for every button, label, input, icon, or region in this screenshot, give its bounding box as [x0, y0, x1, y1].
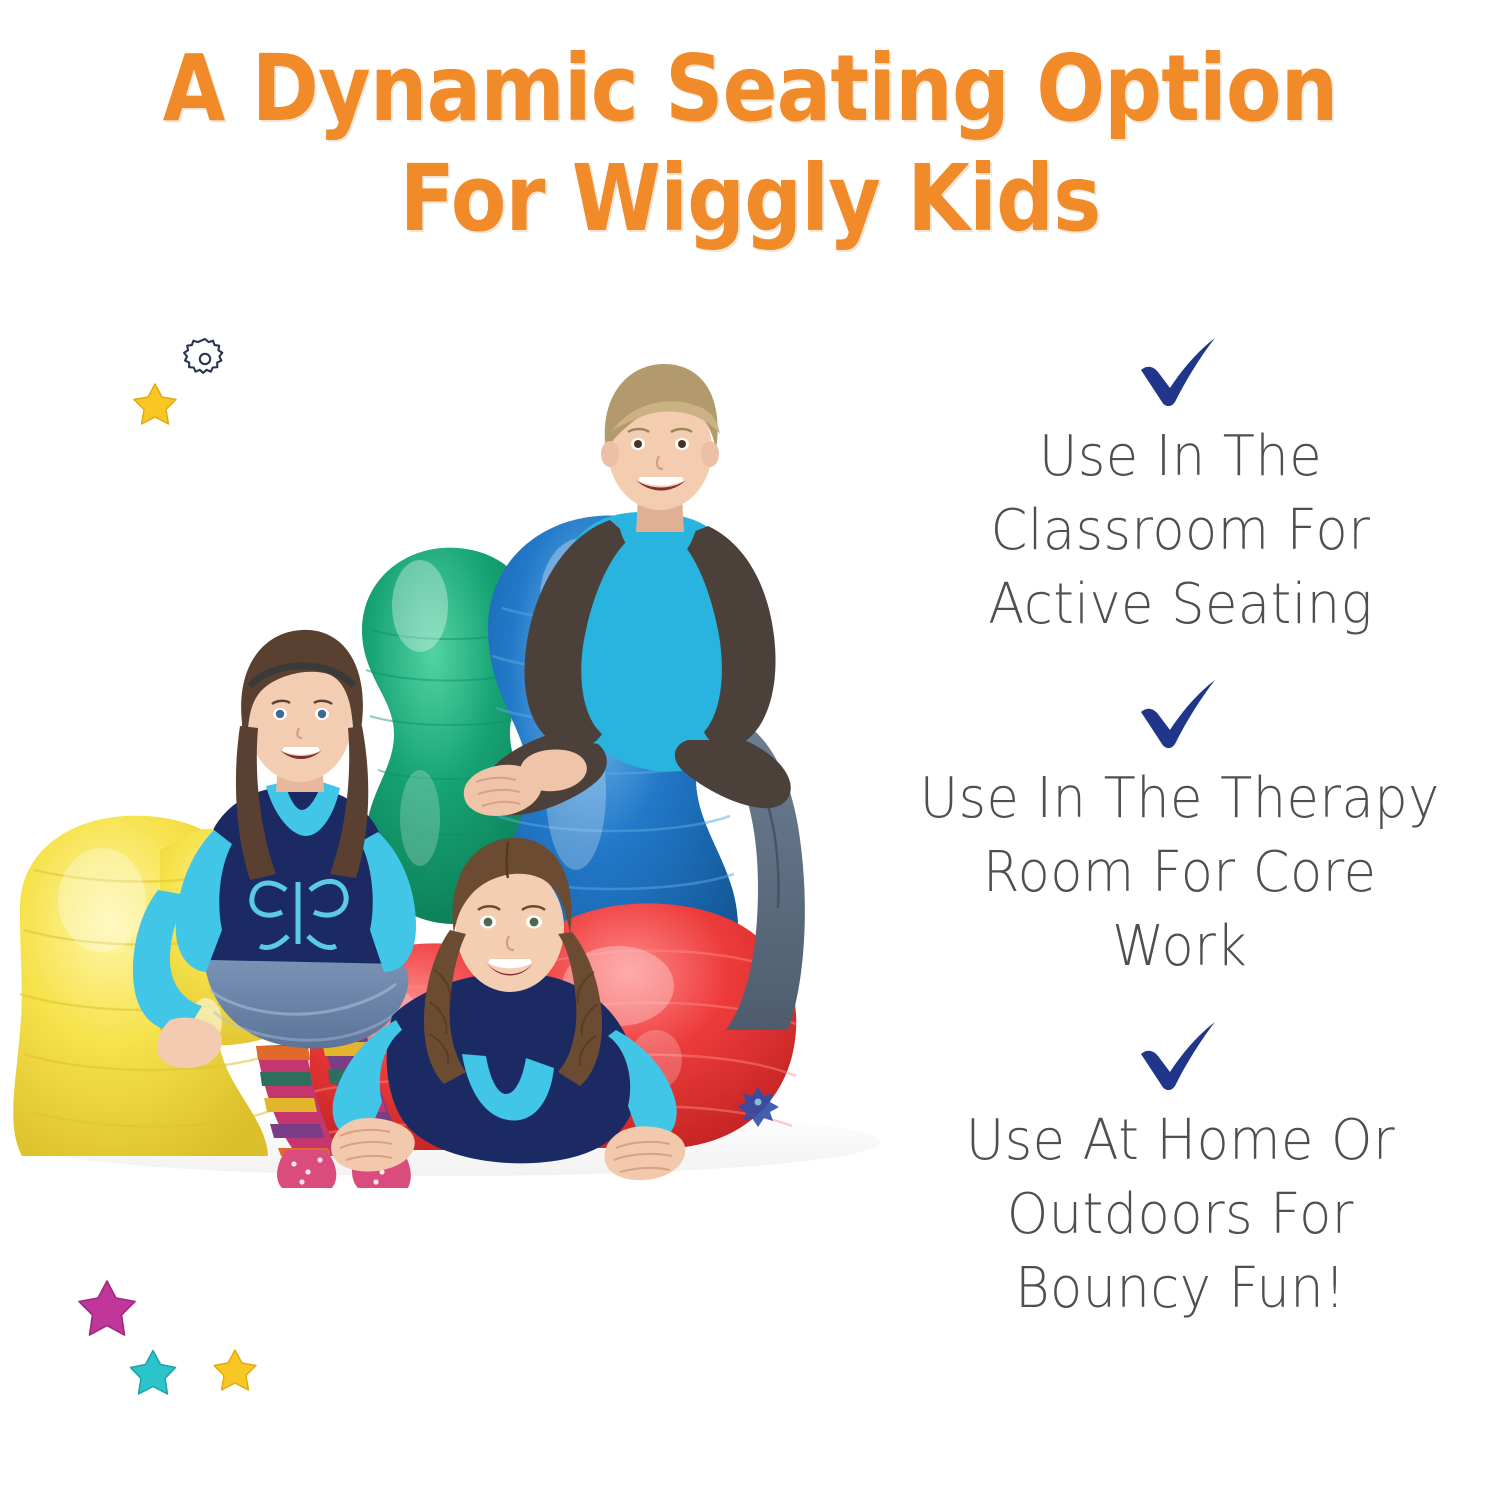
page-title: A Dynamic Seating Option For Wiggly Kids — [90, 34, 1410, 254]
benefit-item-home: Use At Home Or Outdoors For Bouncy Fun! — [880, 1020, 1480, 1326]
star-icon — [212, 1348, 258, 1392]
check-icon — [1137, 678, 1223, 748]
benefit-item-therapy: Use In The Therapy Room For Core Work — [880, 678, 1480, 984]
benefit-item-classroom: Use In The Classroom For Active Seating — [880, 336, 1480, 642]
check-icon — [1137, 1020, 1223, 1090]
benefit-label: Use At Home Or Outdoors For Bouncy Fun! — [965, 1104, 1394, 1326]
star-icon — [132, 382, 178, 426]
benefits-list: Use In The Classroom For Active Seating … — [880, 336, 1480, 1326]
gear-flower-icon — [182, 336, 228, 382]
star-icon — [76, 1278, 138, 1338]
product-photo — [10, 330, 890, 1190]
benefit-label: Use In The Classroom For Active Seating — [988, 420, 1372, 642]
star-icon — [128, 1348, 178, 1396]
promo-graphic: A Dynamic Seating Option For Wiggly Kids — [0, 0, 1500, 1500]
benefit-label: Use In The Therapy Room For Core Work — [920, 762, 1440, 984]
check-icon — [1137, 336, 1223, 406]
